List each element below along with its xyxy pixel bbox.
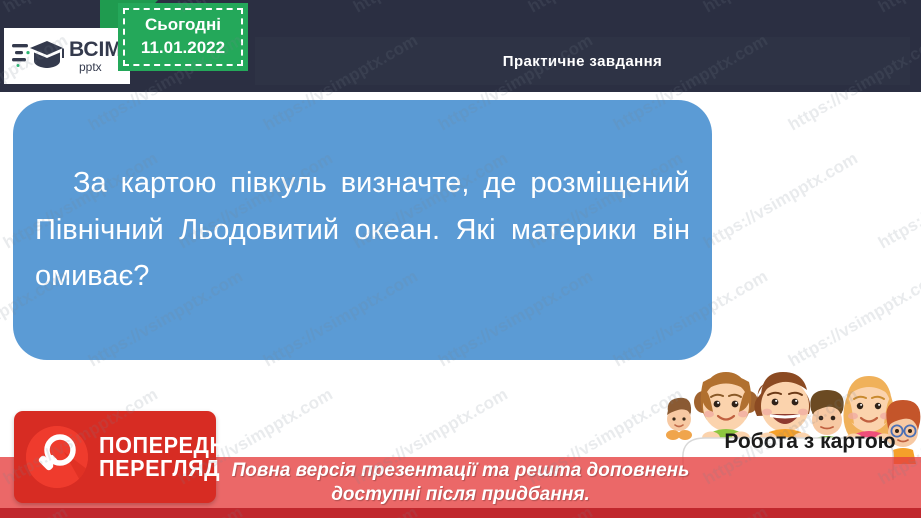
purchase-notice-line-2: доступні після придбання. bbox=[331, 483, 590, 507]
question-text: За картою півкуль визначте, де розміщени… bbox=[35, 160, 690, 301]
question-panel: За картою півкуль визначте, де розміщени… bbox=[13, 100, 712, 360]
magnifier-icon bbox=[26, 426, 88, 488]
logo-sub-text: pptx bbox=[79, 61, 122, 73]
purchase-notice-line-1: Повна версія презентації та решта доповн… bbox=[232, 459, 690, 483]
slide-title-bar: Практичне завдання bbox=[255, 37, 910, 85]
today-date-badge: Сьогодні 11.01.2022 bbox=[118, 3, 248, 71]
graduation-cap-icon bbox=[12, 35, 64, 78]
today-date-value: 11.01.2022 bbox=[141, 37, 225, 60]
slide-canvas: ВСІМ pptx Сьогодні 11.01.2022 Практичне … bbox=[0, 0, 921, 518]
board-label: Робота з картою bbox=[710, 430, 910, 455]
bottom-accent-strip bbox=[0, 508, 921, 518]
preview-badge-line-1: ПОПЕРЕДНІЙ bbox=[99, 434, 248, 457]
brand-logo: ВСІМ pptx bbox=[4, 28, 130, 84]
logo-main-text: ВСІМ bbox=[69, 39, 122, 60]
preview-badge-line-2: ПЕРЕГЛЯД bbox=[99, 457, 248, 480]
today-label: Сьогодні bbox=[145, 14, 221, 37]
page-title: Практичне завдання bbox=[503, 53, 662, 70]
preview-badge: ПОПЕРЕДНІЙ ПЕРЕГЛЯД bbox=[14, 411, 216, 503]
